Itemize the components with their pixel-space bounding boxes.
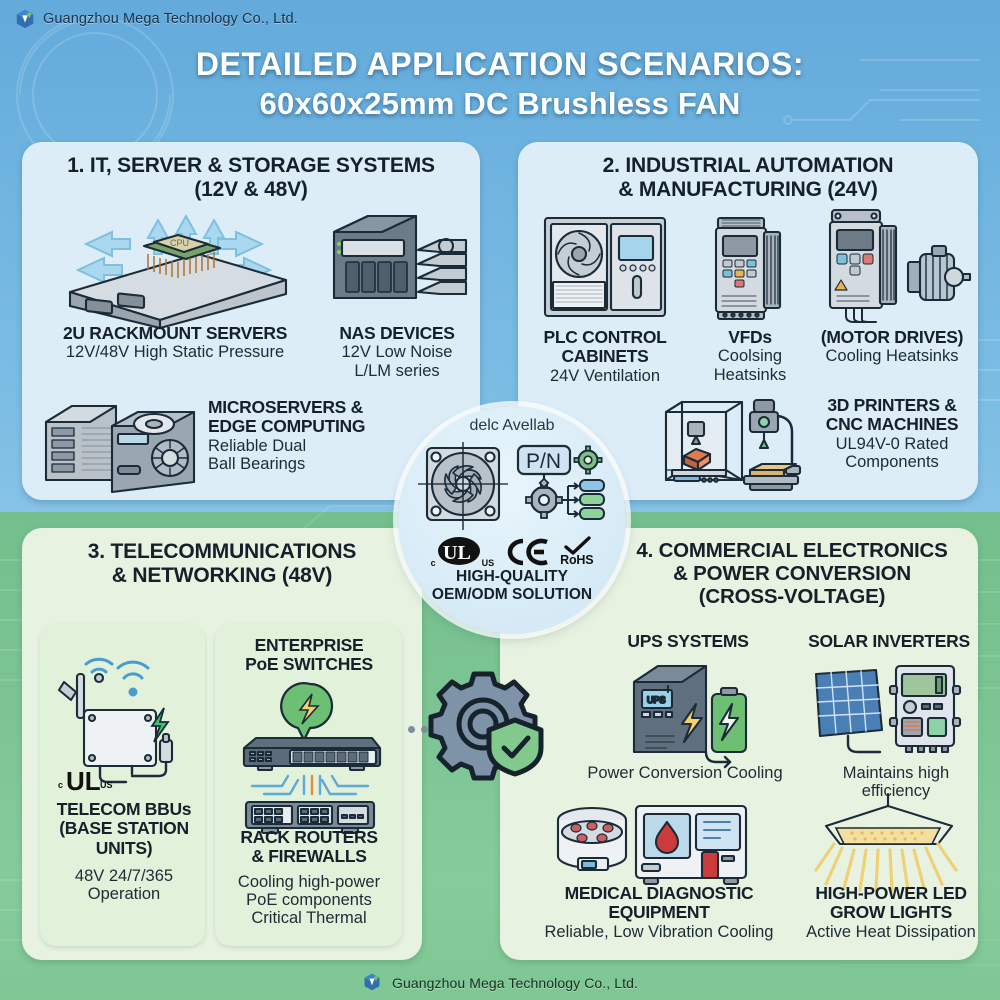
- header-bar: Guangzhou Mega Technology Co., Ltd.: [0, 0, 1000, 36]
- mega-cube-logo-icon: [14, 8, 36, 30]
- item-rack-routers-firewalls: RACK ROUTERS & FIREWALLS Cooling high-po…: [222, 828, 396, 928]
- rohs-mark: RoHS: [560, 537, 593, 566]
- medical-analyzer-icon: [534, 796, 784, 892]
- svg-text:c: c: [58, 780, 63, 790]
- footer-brand-label: Guangzhou Mega Technology Co., Ltd.: [392, 975, 638, 991]
- item-motor-drives: (MOTOR DRIVES) Cooling Heatsinks: [806, 328, 978, 366]
- svg-text:US: US: [100, 780, 113, 790]
- motor-drive-icon: [820, 206, 970, 324]
- page-title: DETAILED APPLICATION SCENARIOS: 60x60x25…: [0, 46, 1000, 122]
- item-high-power-led-grow-lights: HIGH-POWER LED GROW LIGHTS Active Heat D…: [796, 884, 986, 941]
- item-3d-printers-cnc: 3D PRINTERS & CNC MACHINES UL94V-0 Rated…: [806, 396, 978, 471]
- certification-marks: c UL US RoHS: [398, 536, 626, 568]
- svg-text:UL: UL: [443, 542, 471, 564]
- gear-shield-quality-icon: [432, 668, 550, 780]
- item-vfds: VFDs Coolsing Heatsinks: [698, 328, 802, 384]
- vfd-drive-icon: [710, 214, 786, 322]
- footer-bar: Guangzhou Mega Technology Co., Ltd.: [0, 972, 1000, 994]
- title-line-2: 60x60x25mm DC Brushless FAN: [0, 86, 1000, 122]
- svg-text:UL: UL: [66, 766, 101, 796]
- item-nas-devices: NAS DEVICES 12V Low Noise L/LM series: [322, 324, 472, 380]
- header-brand-label: Guangzhou Mega Technology Co., Ltd.: [43, 11, 298, 27]
- rackmount-server-icon: CPU: [48, 208, 308, 328]
- item-2u-rackmount-servers: 2U RACKMOUNT SERVERS 12V/48V High Static…: [30, 324, 320, 362]
- poe-switch-header: ENTERPRISE PoE SWITCHES: [222, 636, 396, 675]
- center-hub-badge[interactable]: delc Avellab: [398, 406, 626, 634]
- plc-cabinet-icon: [541, 214, 669, 320]
- gear-icon: [574, 446, 601, 473]
- nas-device-icon: [320, 206, 470, 318]
- ul-listed-mark: c UL US: [431, 536, 495, 568]
- panel-3-heading: 3. TELECOMMUNICATIONS & NETWORKING (48V): [22, 528, 422, 587]
- item-medical-diagnostic-equipment: MEDICAL DIAGNOSTIC EQUIPMENT Reliable, L…: [530, 884, 788, 941]
- led-grow-light-icon: [800, 792, 980, 896]
- mega-cube-logo-icon: [362, 972, 384, 994]
- pn-label: P/N: [526, 450, 561, 473]
- 3d-printer-cnc-icon: [658, 392, 808, 496]
- svg-text:UPS: UPS: [647, 695, 666, 705]
- hub-caption: HIGH-QUALITY OEM/ODM SOLUTION: [398, 568, 626, 603]
- solar-inverter-icon: [810, 660, 970, 760]
- item-ups-systems-title: UPS SYSTEMS: [600, 632, 776, 651]
- panel-1-heading: 1. IT, SERVER & STORAGE SYSTEMS (12V & 4…: [22, 142, 480, 201]
- pn-config-icon: P/N: [516, 442, 610, 534]
- axial-fan-icon: [418, 442, 508, 534]
- item-ups-systems-sub: Power Conversion Cooling: [570, 764, 800, 782]
- microserver-icon: [38, 396, 202, 500]
- title-line-1: DETAILED APPLICATION SCENARIOS:: [0, 46, 1000, 83]
- hub-brand-label: delc Avellab: [398, 417, 626, 435]
- connector-dots: [408, 726, 428, 733]
- item-plc-control-cabinets: PLC CONTROL CABINETS 24V Ventilation: [526, 328, 684, 385]
- telecom-bbu-antenna-icon: c UL US: [48, 648, 198, 796]
- item-solar-inverters-title: SOLAR INVERTERS: [794, 632, 984, 651]
- item-telecom-bbus: TELECOM BBUs (BASE STATION UNITS) 48V 24…: [44, 800, 204, 904]
- infographic-canvas: Guangzhou Mega Technology Co., Ltd. DETA…: [0, 0, 1000, 1000]
- ups-battery-icon: UPS: [620, 660, 760, 766]
- ul-glyph-icon: UL: [437, 536, 481, 566]
- header-brand: Guangzhou Mega Technology Co., Ltd.: [14, 8, 298, 30]
- ce-mark: [505, 537, 549, 567]
- panel-2-heading: 2. INDUSTRIAL AUTOMATION & MANUFACTURING…: [518, 142, 978, 201]
- poe-switch-icon: [232, 682, 388, 800]
- svg-text:CPU: CPU: [170, 238, 189, 248]
